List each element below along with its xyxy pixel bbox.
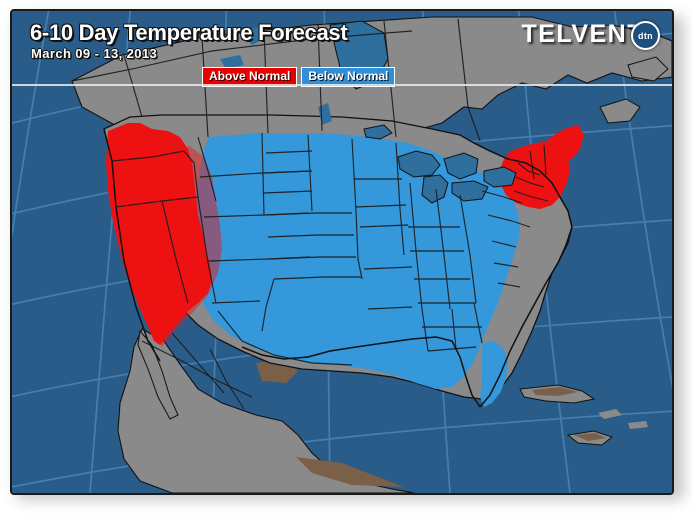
map-frame: 6-10 Day Temperature Forecast March 09 -… bbox=[10, 9, 674, 495]
legend-above-normal[interactable]: Above Normal bbox=[202, 67, 297, 87]
weather-map-screenshot: 6-10 Day Temperature Forecast March 09 -… bbox=[0, 0, 692, 532]
legend-below-normal[interactable]: Below Normal bbox=[301, 67, 395, 87]
